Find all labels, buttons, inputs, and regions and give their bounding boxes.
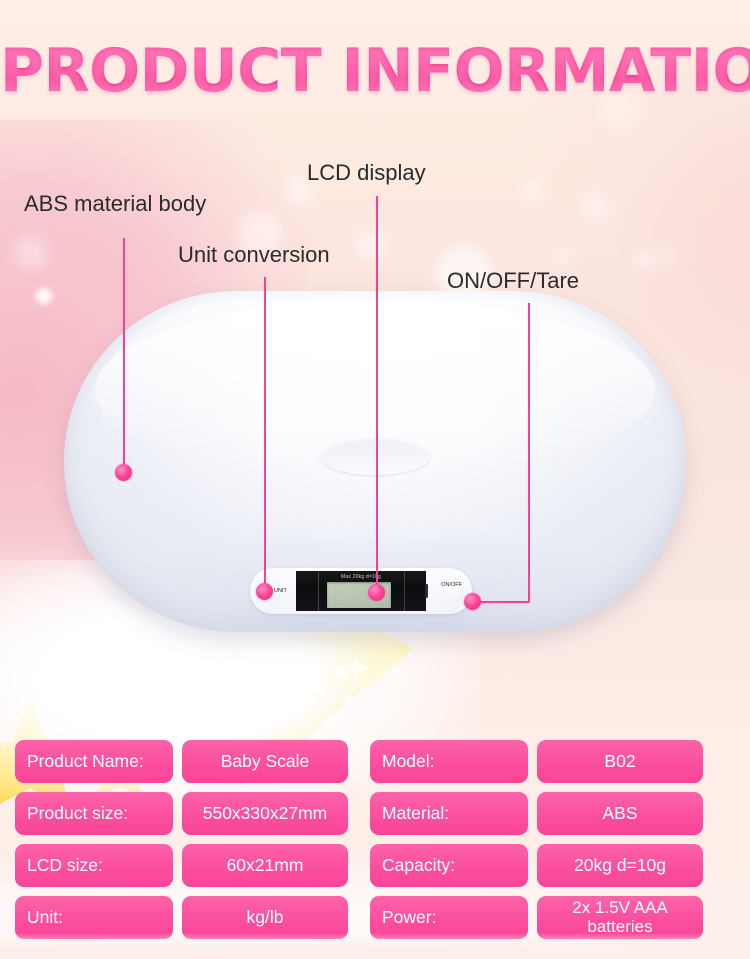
leader-line-on-off-tare-horizontal (474, 601, 530, 603)
bokeh-dot (356, 230, 386, 260)
bokeh-dot (36, 288, 52, 304)
spec-value-model: B02 (537, 740, 703, 783)
callout-dot-unit-conversion (256, 583, 273, 600)
leader-line-lcd-display (376, 196, 378, 588)
table-row: Product size: 550x330x27mm Material: ABS (15, 792, 735, 835)
bokeh-dot (18, 640, 88, 710)
bottom-band (0, 933, 750, 959)
bokeh-dot (660, 248, 674, 262)
specification-table: Product Name: Baby Scale Model: B02 Prod… (15, 740, 735, 948)
lcd-max-label: Max 20kg d=10g (296, 574, 426, 580)
spec-label-capacity: Capacity: (370, 844, 528, 887)
panel-notch (425, 584, 428, 598)
spec-value-lcd-size: 60x21mm (182, 844, 348, 887)
spec-label-model: Model: (370, 740, 528, 783)
onoff-button-label: ON/OFF (441, 582, 462, 588)
unit-button-label: UNIT (274, 588, 287, 594)
spec-value-capacity: 20kg d=10g (537, 844, 703, 887)
spec-value-material: ABS (537, 792, 703, 835)
callout-dot-lcd-display (368, 584, 385, 601)
page-title: PRODUCT INFORMATION (0, 36, 750, 106)
spec-label-material: Material: (370, 792, 528, 835)
callout-label-on-off-tare: ON/OFF/Tare (447, 268, 579, 294)
callout-label-unit-conversion: Unit conversion (178, 242, 330, 268)
bokeh-dot (580, 192, 610, 222)
panel-faceplate: Max 20kg d=10g (296, 571, 426, 611)
callout-label-lcd-display: LCD display (307, 160, 426, 186)
callout-dot-on-off-tare (464, 593, 481, 610)
leader-line-on-off-tare-vertical (528, 303, 530, 602)
table-row: Product Name: Baby Scale Model: B02 (15, 740, 735, 783)
callout-dot-abs-material-body (115, 464, 132, 481)
spec-value-product-name: Baby Scale (182, 740, 348, 783)
bokeh-dot (554, 248, 570, 264)
product-information-page: PRODUCT INFORMATION UNIT Max 20kg d=10g … (0, 0, 750, 959)
spec-label-product-size: Product size: (15, 792, 173, 835)
leader-line-abs-material-body (123, 238, 125, 469)
scale-control-panel: UNIT Max 20kg d=10g ON/OFF (250, 568, 472, 614)
leader-line-unit-conversion (264, 277, 266, 587)
spec-value-product-size: 550x330x27mm (182, 792, 348, 835)
callout-label-abs-material-body: ABS material body (24, 191, 206, 217)
bokeh-dot (14, 236, 48, 270)
bokeh-dot (636, 250, 654, 268)
spec-label-lcd-size: LCD size: (15, 844, 173, 887)
spec-label-product-name: Product Name: (15, 740, 173, 783)
bokeh-dot (522, 180, 544, 202)
table-row: LCD size: 60x21mm Capacity: 20kg d=10g (15, 844, 735, 887)
scale-center-emboss (320, 438, 430, 475)
